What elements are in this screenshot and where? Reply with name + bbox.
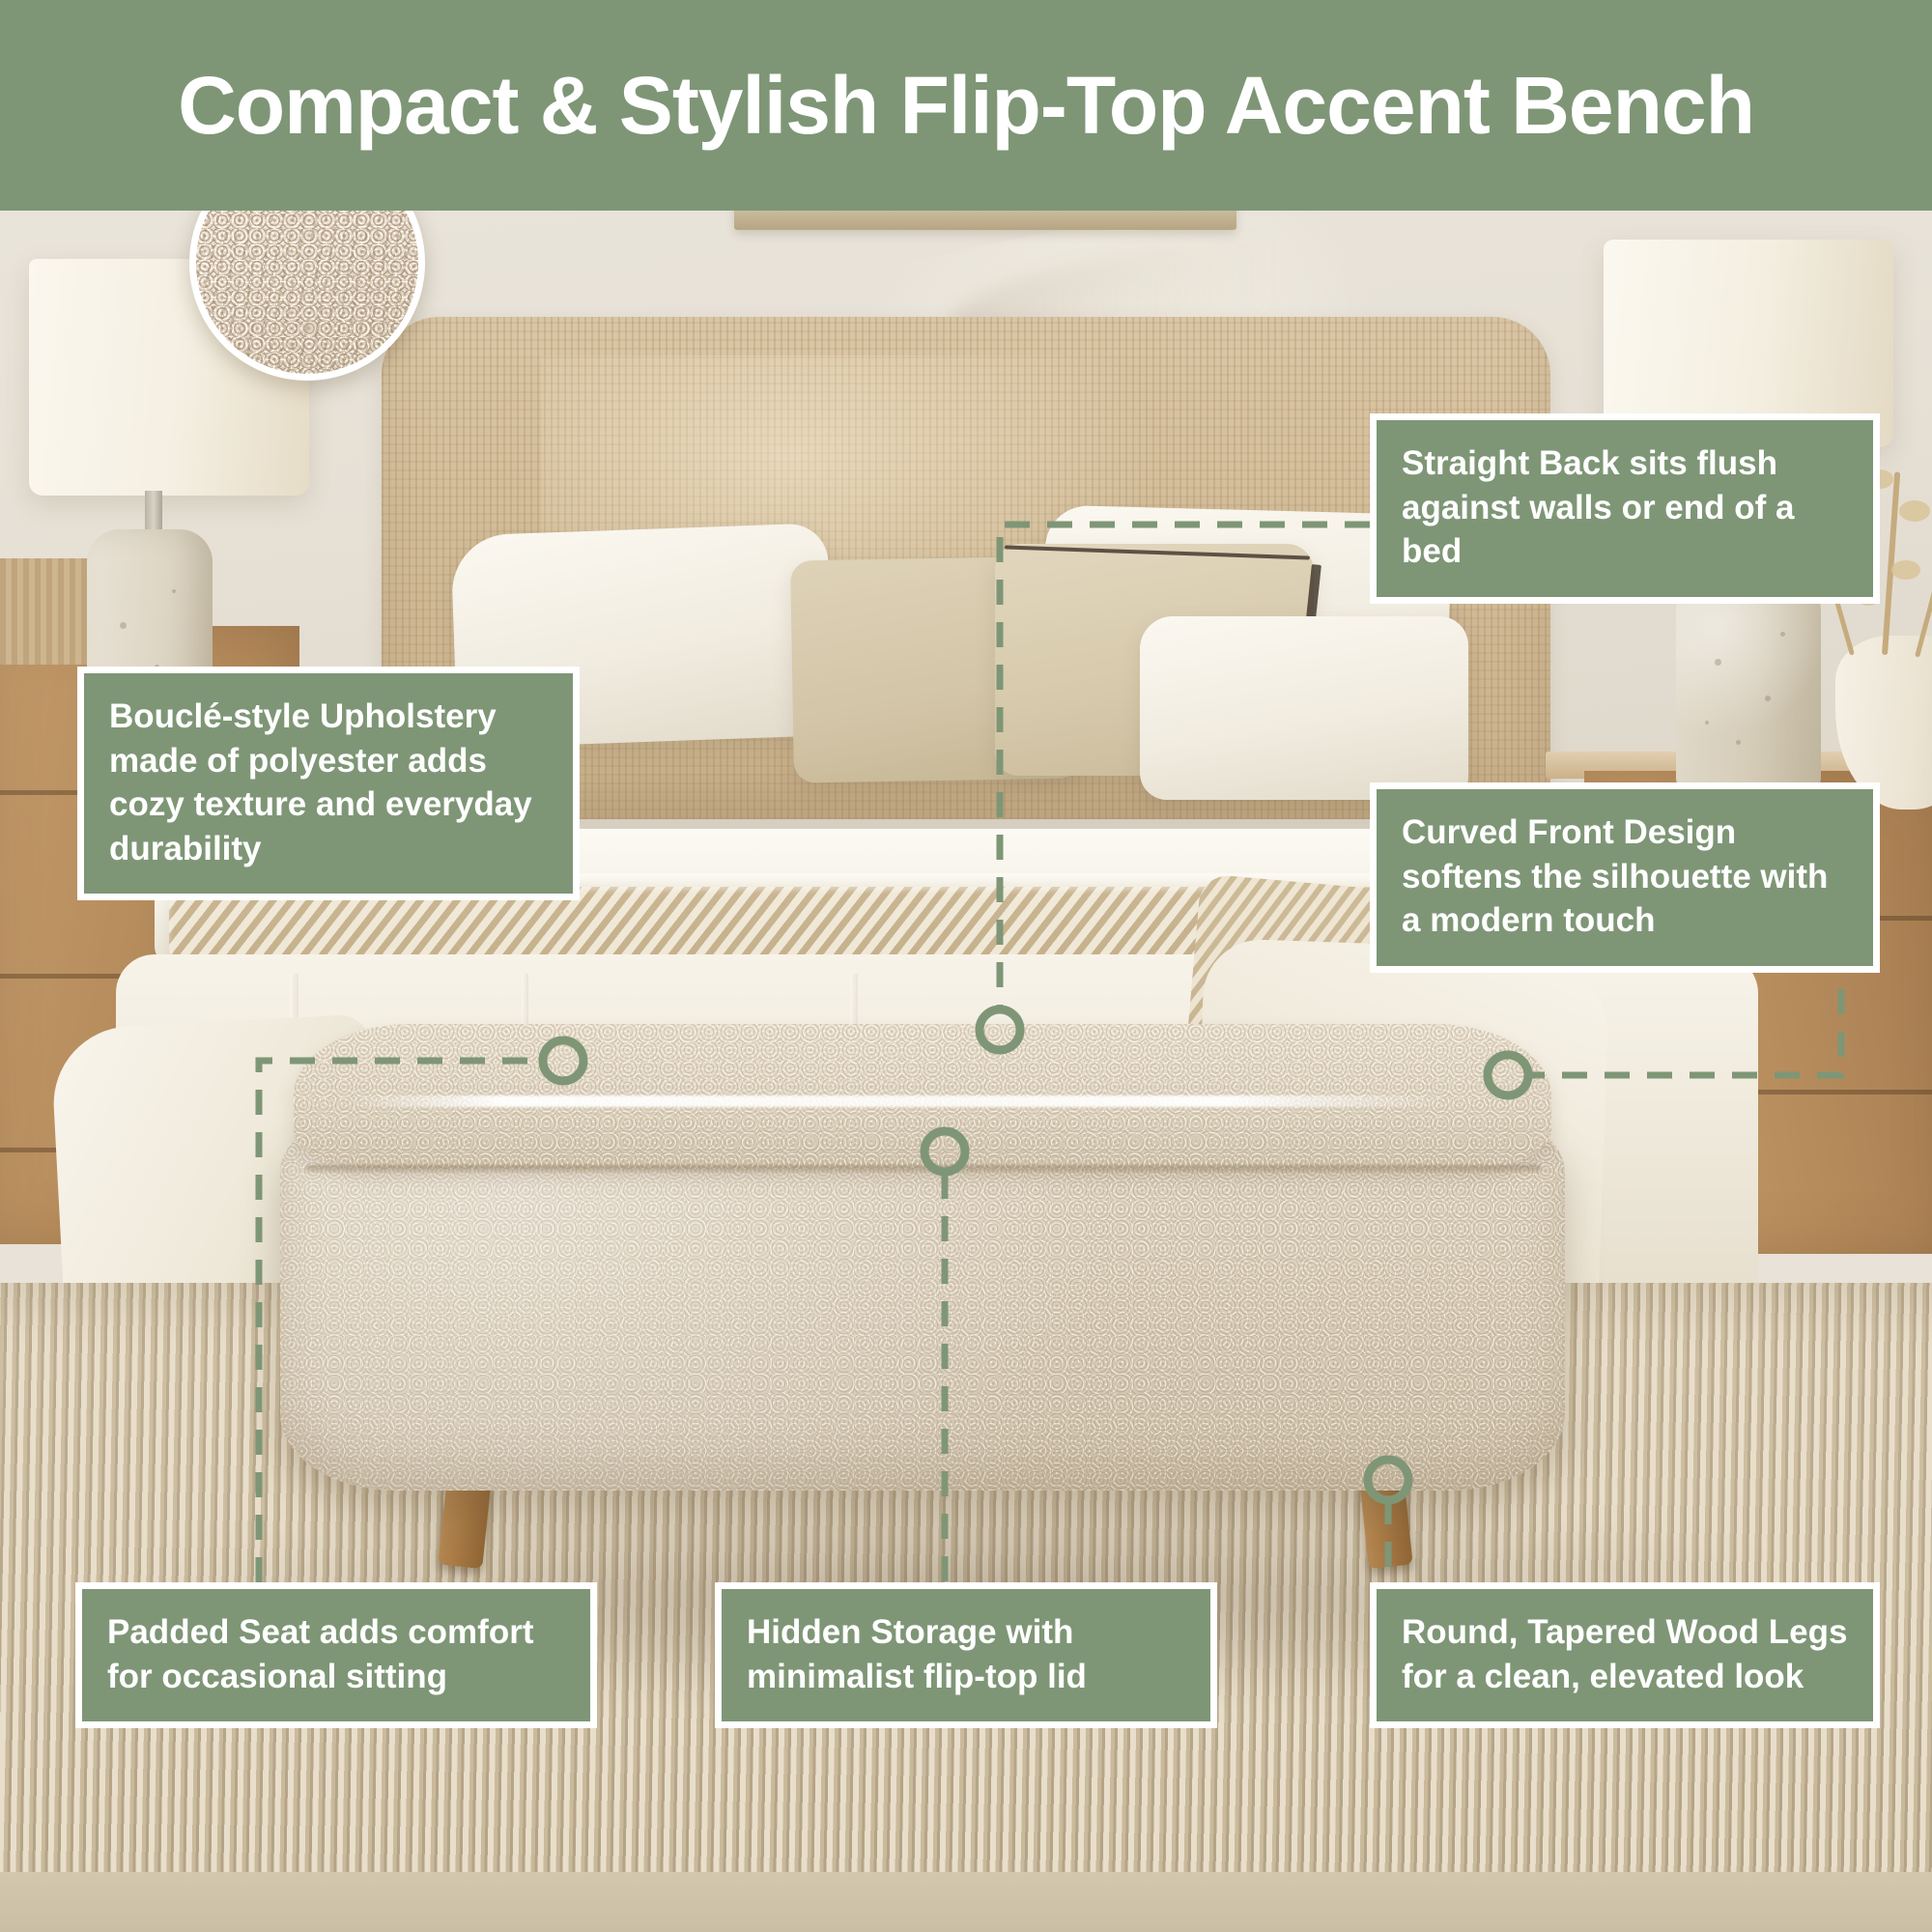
callout-title: Curved Front Design: [1402, 813, 1736, 851]
pillow: [1140, 616, 1468, 800]
infographic-page: Compact & Stylish Flip-Top Accent Bench: [0, 0, 1932, 1932]
callout-title: Straight Back: [1402, 444, 1620, 482]
callout-title: Hidden Storage: [747, 1613, 997, 1651]
callout-padded-seat: Padded Seat adds comfort for occasional …: [75, 1582, 597, 1728]
callout-title: Bouclé-style Upholstery: [109, 697, 497, 735]
callout-straight-back: Straight Back sits flush against walls o…: [1370, 413, 1880, 604]
header-banner: Compact & Stylish Flip-Top Accent Bench: [0, 0, 1932, 211]
lamp-base-right: [1676, 578, 1821, 795]
callout-boucle-upholstery: Bouclé-style Upholstery made of polyeste…: [77, 667, 580, 900]
callout-title: Padded Seat: [107, 1613, 310, 1651]
callout-hidden-storage: Hidden Storage with minimalist flip-top …: [715, 1582, 1217, 1728]
lid-highlight: [348, 1095, 1449, 1107]
callout-title: Round, Tapered Wood Legs: [1402, 1613, 1847, 1651]
callout-body: made of polyester adds cozy texture and …: [109, 742, 532, 867]
storage-bench: [280, 1003, 1565, 1544]
callout-wood-legs: Round, Tapered Wood Legs for a clean, el…: [1370, 1582, 1880, 1728]
rug-foreground: [0, 1872, 1932, 1932]
page-title: Compact & Stylish Flip-Top Accent Bench: [178, 65, 1754, 146]
wall-art-frame: [734, 211, 1236, 230]
callout-body: for a clean, elevated look: [1402, 1658, 1804, 1695]
callout-body: softens the silhouette with a modern tou…: [1402, 858, 1828, 940]
lid-seam: [305, 1165, 1542, 1174]
callout-curved-front-design: Curved Front Design softens the silhouet…: [1370, 782, 1880, 973]
